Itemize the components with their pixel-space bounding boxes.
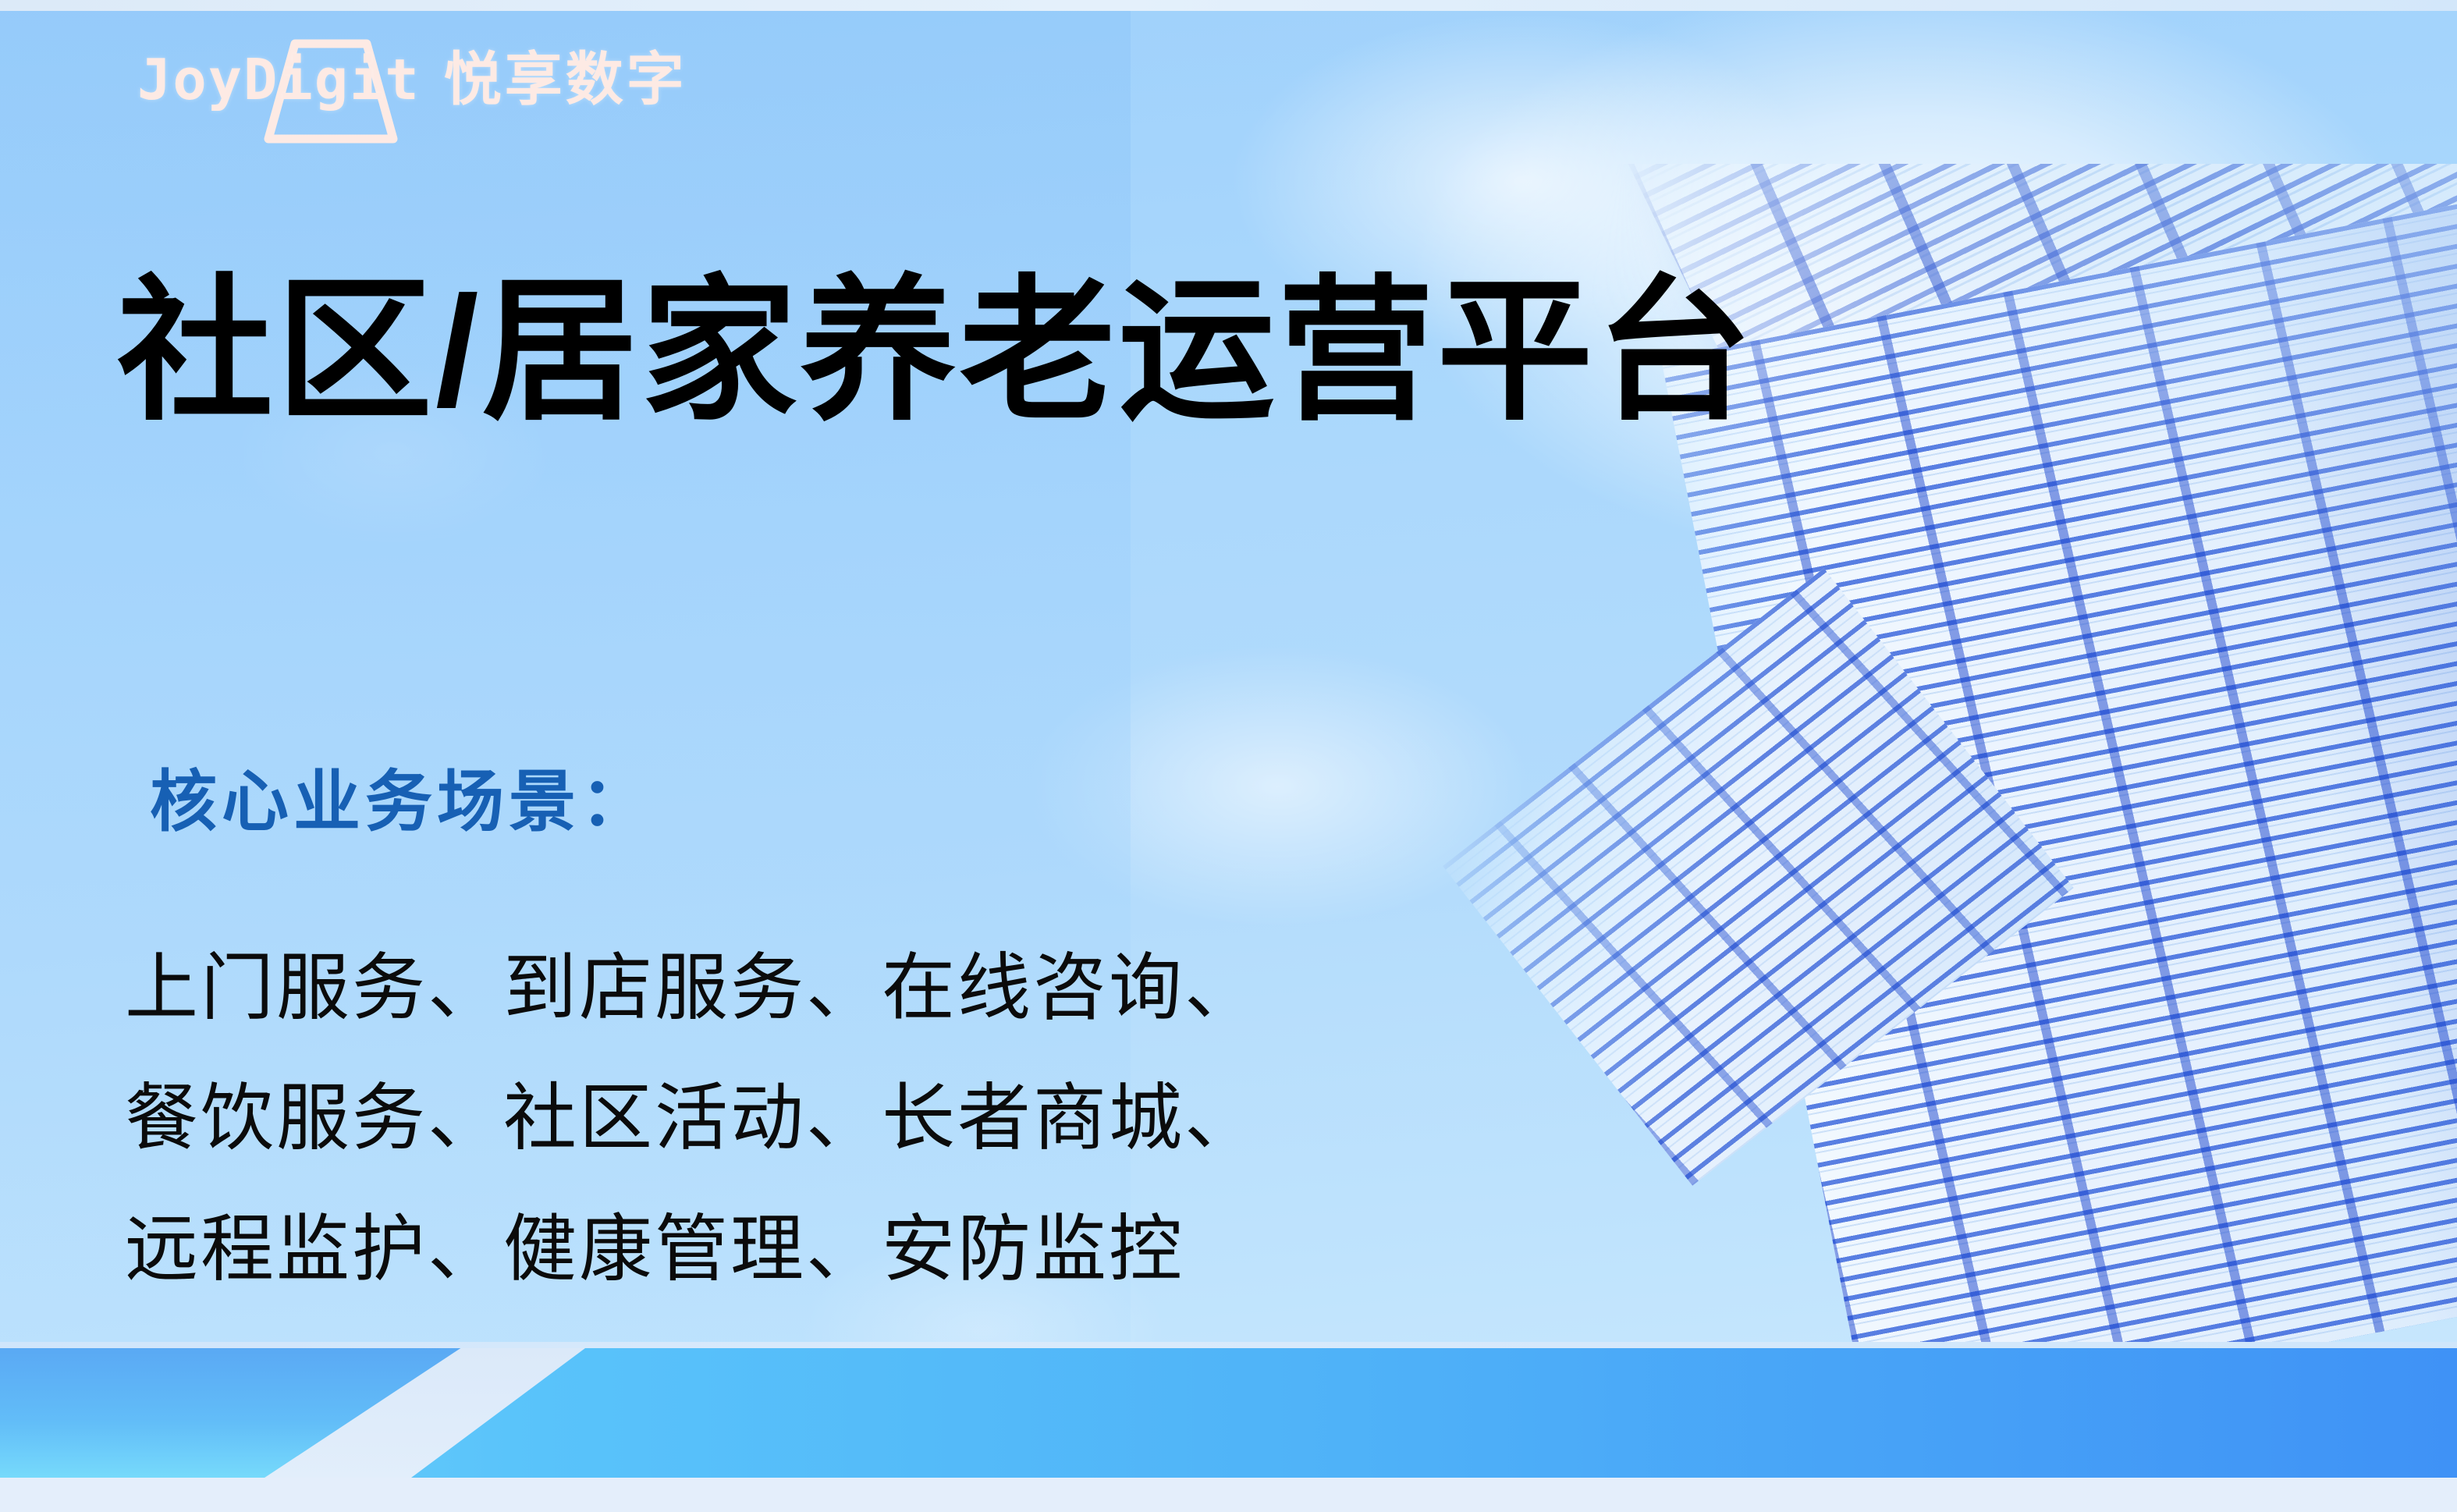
bottom-decorative-band	[0, 1342, 2457, 1512]
scenario-line: 上门服务、到店服务、在线咨询、	[125, 922, 1260, 1052]
page-title: 社区/居家养老运营平台	[117, 269, 1756, 435]
brand-wordmark: JoyDigit	[137, 51, 421, 108]
brand-logo: JoyDigit 悦享数字	[137, 36, 687, 123]
brand-chinese-name: 悦享数字	[444, 51, 687, 108]
band-top-gap	[0, 1342, 2457, 1349]
slide-root: JoyDigit 悦享数字 社区/居家养老运营平台 核心业务场景： 上门服务、到…	[0, 0, 2457, 1512]
band-bottom-fill	[0, 1478, 2457, 1512]
core-scenarios-list: 上门服务、到店服务、在线咨询、 餐饮服务、社区活动、长者商城、 远程监护、健康管…	[125, 922, 1260, 1314]
scenario-line: 远程监护、健康管理、安防监控	[125, 1184, 1260, 1314]
top-edge-strip	[0, 0, 2457, 11]
scenario-line: 餐饮服务、社区活动、长者商城、	[125, 1052, 1260, 1183]
section-heading-core-scenarios: 核心业务场景：	[150, 768, 652, 836]
